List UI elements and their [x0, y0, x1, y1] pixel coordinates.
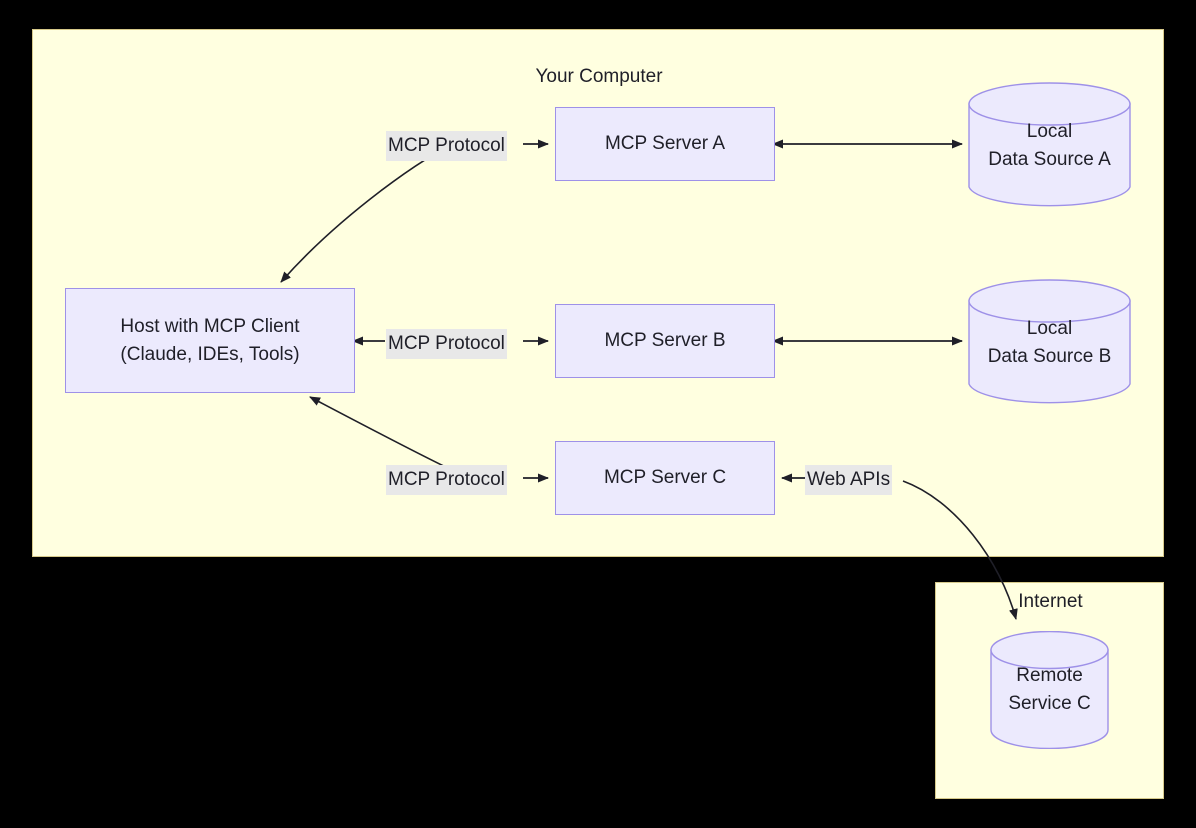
container-internet-label: Internet [936, 591, 1165, 613]
diagram-canvas: Your Computer Internet [0, 0, 1196, 828]
node-mcp-server-a[interactable]: MCP Server A [555, 107, 775, 181]
node-host-label-line2: (Claude, IDEs, Tools) [120, 341, 299, 369]
database-cylinder-icon [968, 279, 1131, 406]
node-local-data-source-b[interactable]: Local Data Source B [968, 279, 1131, 406]
node-mcp-server-b[interactable]: MCP Server B [555, 304, 775, 378]
node-host-with-mcp-client[interactable]: Host with MCP Client (Claude, IDEs, Tool… [65, 288, 355, 393]
node-mcp-server-a-label: MCP Server A [605, 130, 725, 158]
node-local-data-source-a[interactable]: Local Data Source A [968, 82, 1131, 209]
database-cylinder-icon [968, 82, 1131, 209]
edge-label-mcp-protocol-c: MCP Protocol [386, 465, 507, 495]
edge-label-mcp-protocol-a: MCP Protocol [386, 131, 507, 161]
node-mcp-server-c[interactable]: MCP Server C [555, 441, 775, 515]
node-mcp-server-c-label: MCP Server C [604, 464, 726, 492]
edge-label-web-apis: Web APIs [805, 465, 892, 495]
node-remote-service-c[interactable]: Remote Service C [990, 631, 1109, 749]
database-cylinder-icon [990, 631, 1109, 749]
node-host-label-line1: Host with MCP Client [120, 313, 299, 341]
node-mcp-server-b-label: MCP Server B [604, 327, 725, 355]
edge-label-mcp-protocol-b: MCP Protocol [386, 329, 507, 359]
